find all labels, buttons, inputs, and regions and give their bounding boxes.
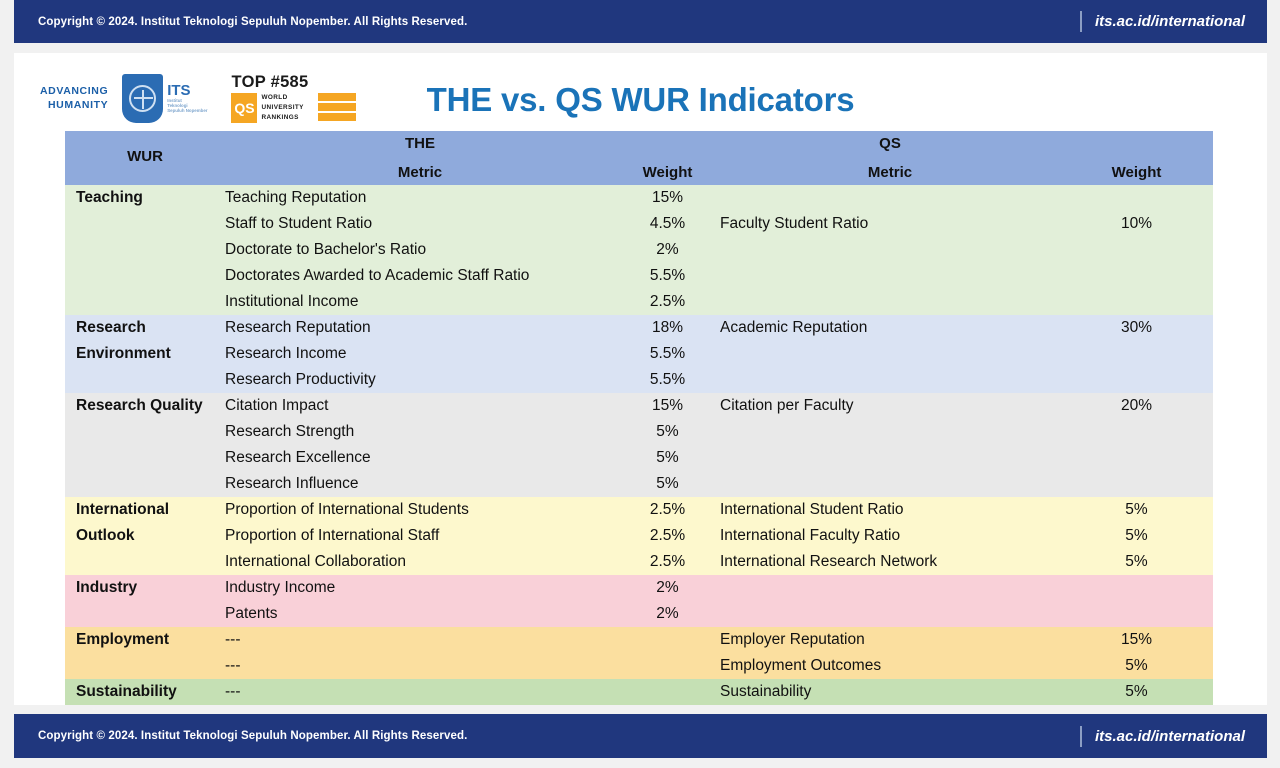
group-header-the: THE bbox=[225, 135, 615, 152]
cell-the-metric: Research Reputation bbox=[225, 315, 615, 341]
table-row: Research QualityCitation Impact15%Citati… bbox=[65, 393, 1213, 419]
cell-the-metric: --- bbox=[225, 627, 615, 653]
cell-the-weight: 2% bbox=[615, 601, 720, 627]
table-row: Research EnvironmentResearch Reputation1… bbox=[65, 315, 1213, 341]
cell-qs-metric bbox=[720, 237, 1060, 263]
the-metric-label: Metric bbox=[398, 164, 442, 181]
cell-qs-weight: 5% bbox=[1060, 497, 1213, 523]
cell-qs-weight bbox=[1060, 185, 1213, 211]
cell-the-weight bbox=[615, 627, 720, 653]
table-row: TeachingTeaching Reputation15% bbox=[65, 185, 1213, 211]
top-bar-right: its.ac.id/international bbox=[1080, 11, 1245, 32]
cell-qs-metric bbox=[720, 471, 1060, 497]
table-row: Doctorates Awarded to Academic Staff Rat… bbox=[65, 263, 1213, 289]
cell-the-metric: Research Income bbox=[225, 341, 615, 367]
group-header-qs: QS bbox=[720, 135, 1060, 152]
table-row: ---Employment Outcomes5% bbox=[65, 653, 1213, 679]
bottom-bar-url[interactable]: its.ac.id/international bbox=[1095, 728, 1245, 745]
cell-the-metric: Proportion of International Students bbox=[225, 497, 615, 523]
table-head: WUR THE Metric Weight QS Metric Weight bbox=[65, 131, 1213, 185]
col-header-qs-metric: QS Metric bbox=[720, 131, 1060, 185]
divider-icon bbox=[1080, 11, 1082, 32]
wur-category-sustainability: Sustainability bbox=[65, 679, 225, 705]
bottom-bar-right: its.ac.id/international bbox=[1080, 726, 1245, 747]
cell-qs-weight: 15% bbox=[1060, 627, 1213, 653]
cell-the-weight: 4.5% bbox=[615, 211, 720, 237]
cell-the-weight bbox=[615, 653, 720, 679]
cell-qs-weight: 5% bbox=[1060, 679, 1213, 705]
qs-metric-label: Metric bbox=[868, 164, 912, 181]
cell-the-weight: 2.5% bbox=[615, 549, 720, 575]
col-header-qs-weight: Weight bbox=[1060, 131, 1213, 185]
cell-qs-metric: Citation per Faculty bbox=[720, 393, 1060, 419]
cell-the-weight: 5.5% bbox=[615, 341, 720, 367]
cell-the-weight: 2.5% bbox=[615, 523, 720, 549]
cell-qs-weight bbox=[1060, 289, 1213, 315]
cell-the-weight bbox=[615, 679, 720, 705]
page-title: THE vs. QS WUR Indicators bbox=[14, 81, 1267, 119]
cell-the-metric: Research Influence bbox=[225, 471, 615, 497]
col-header-the-weight: Weight bbox=[615, 131, 720, 185]
cell-the-metric: Research Productivity bbox=[225, 367, 615, 393]
cell-the-metric: Staff to Student Ratio bbox=[225, 211, 615, 237]
slide-canvas: ADVANCING HUMANITY ITS Institut Teknolog… bbox=[14, 53, 1267, 705]
cell-the-metric: Research Excellence bbox=[225, 445, 615, 471]
cell-qs-weight: 5% bbox=[1060, 523, 1213, 549]
cell-qs-weight: 30% bbox=[1060, 315, 1213, 341]
cell-qs-metric bbox=[720, 601, 1060, 627]
table-row: Doctorate to Bachelor's Ratio2% bbox=[65, 237, 1213, 263]
wur-category-employment: Employment bbox=[65, 627, 225, 679]
cell-qs-metric: Faculty Student Ratio bbox=[720, 211, 1060, 237]
cell-the-metric: Research Strength bbox=[225, 419, 615, 445]
bottom-bar-copyright: Copyright © 2024. Institut Teknologi Sep… bbox=[38, 730, 467, 742]
cell-qs-weight bbox=[1060, 471, 1213, 497]
indicators-table: WUR THE Metric Weight QS Metric Weight T… bbox=[65, 131, 1213, 705]
cell-qs-weight: 10% bbox=[1060, 211, 1213, 237]
table-row: Research Income5.5% bbox=[65, 341, 1213, 367]
cell-the-weight: 5% bbox=[615, 419, 720, 445]
table-row: Patents2% bbox=[65, 601, 1213, 627]
cell-qs-weight: 5% bbox=[1060, 653, 1213, 679]
wur-category-teaching: Teaching bbox=[65, 185, 225, 315]
table-row: International Collaboration2.5%Internati… bbox=[65, 549, 1213, 575]
col-header-wur: WUR bbox=[65, 131, 225, 185]
cell-qs-metric: Employment Outcomes bbox=[720, 653, 1060, 679]
cell-the-metric: Doctorate to Bachelor's Ratio bbox=[225, 237, 615, 263]
wur-category-international: International Outlook bbox=[65, 497, 225, 575]
divider-icon bbox=[1080, 726, 1082, 747]
wur-category-research: Research Environment bbox=[65, 315, 225, 393]
cell-qs-metric: Sustainability bbox=[720, 679, 1060, 705]
cell-qs-metric: Employer Reputation bbox=[720, 627, 1060, 653]
cell-the-metric: Institutional Income bbox=[225, 289, 615, 315]
cell-the-weight: 2% bbox=[615, 575, 720, 601]
cell-the-weight: 2.5% bbox=[615, 497, 720, 523]
table-row: Sustainability---Sustainability5% bbox=[65, 679, 1213, 705]
cell-the-metric: --- bbox=[225, 653, 615, 679]
cell-qs-metric bbox=[720, 419, 1060, 445]
cell-the-weight: 5.5% bbox=[615, 263, 720, 289]
wur-category-industry: Industry bbox=[65, 575, 225, 627]
table-row: Staff to Student Ratio4.5%Faculty Studen… bbox=[65, 211, 1213, 237]
cell-the-metric: --- bbox=[225, 679, 615, 705]
cell-the-metric: Teaching Reputation bbox=[225, 185, 615, 211]
cell-qs-weight bbox=[1060, 575, 1213, 601]
table-row: Research Excellence5% bbox=[65, 445, 1213, 471]
cell-qs-weight bbox=[1060, 601, 1213, 627]
cell-qs-metric: Academic Reputation bbox=[720, 315, 1060, 341]
cell-qs-metric bbox=[720, 341, 1060, 367]
cell-the-weight: 15% bbox=[615, 185, 720, 211]
cell-qs-metric bbox=[720, 575, 1060, 601]
cell-qs-weight: 20% bbox=[1060, 393, 1213, 419]
table-row: Research Influence5% bbox=[65, 471, 1213, 497]
top-bar-url[interactable]: its.ac.id/international bbox=[1095, 13, 1245, 30]
cell-qs-metric bbox=[720, 263, 1060, 289]
table-header-row: WUR THE Metric Weight QS Metric Weight bbox=[65, 131, 1213, 185]
cell-qs-weight bbox=[1060, 367, 1213, 393]
cell-qs-weight bbox=[1060, 419, 1213, 445]
table-row: Proportion of International Staff2.5%Int… bbox=[65, 523, 1213, 549]
cell-qs-metric bbox=[720, 185, 1060, 211]
cell-the-weight: 18% bbox=[615, 315, 720, 341]
cell-qs-metric bbox=[720, 445, 1060, 471]
table-body: TeachingTeaching Reputation15%Staff to S… bbox=[65, 185, 1213, 705]
cell-qs-weight bbox=[1060, 445, 1213, 471]
top-bar: Copyright © 2024. Institut Teknologi Sep… bbox=[14, 0, 1267, 43]
bottom-bar: Copyright © 2024. Institut Teknologi Sep… bbox=[14, 714, 1267, 758]
table-row: IndustryIndustry Income2% bbox=[65, 575, 1213, 601]
cell-qs-metric: International Research Network bbox=[720, 549, 1060, 575]
table-row: International OutlookProportion of Inter… bbox=[65, 497, 1213, 523]
cell-qs-metric bbox=[720, 367, 1060, 393]
cell-qs-weight bbox=[1060, 263, 1213, 289]
cell-the-weight: 2.5% bbox=[615, 289, 720, 315]
cell-the-metric: Industry Income bbox=[225, 575, 615, 601]
cell-the-weight: 5% bbox=[615, 445, 720, 471]
table-row: Institutional Income2.5% bbox=[65, 289, 1213, 315]
cell-the-weight: 5% bbox=[615, 471, 720, 497]
cell-qs-weight: 5% bbox=[1060, 549, 1213, 575]
col-header-the-metric: THE Metric bbox=[225, 131, 615, 185]
cell-the-metric: Proportion of International Staff bbox=[225, 523, 615, 549]
table-row: Employment---Employer Reputation15% bbox=[65, 627, 1213, 653]
cell-qs-metric: International Student Ratio bbox=[720, 497, 1060, 523]
table-row: Research Productivity5.5% bbox=[65, 367, 1213, 393]
cell-the-weight: 5.5% bbox=[615, 367, 720, 393]
cell-the-weight: 2% bbox=[615, 237, 720, 263]
cell-qs-metric bbox=[720, 289, 1060, 315]
cell-qs-weight bbox=[1060, 341, 1213, 367]
cell-qs-metric: International Faculty Ratio bbox=[720, 523, 1060, 549]
cell-the-metric: Doctorates Awarded to Academic Staff Rat… bbox=[225, 263, 615, 289]
cell-the-weight: 15% bbox=[615, 393, 720, 419]
cell-the-metric: Patents bbox=[225, 601, 615, 627]
cell-qs-weight bbox=[1060, 237, 1213, 263]
top-bar-copyright: Copyright © 2024. Institut Teknologi Sep… bbox=[38, 16, 467, 28]
table-row: Research Strength5% bbox=[65, 419, 1213, 445]
cell-the-metric: Citation Impact bbox=[225, 393, 615, 419]
wur-category-quality: Research Quality bbox=[65, 393, 225, 497]
cell-the-metric: International Collaboration bbox=[225, 549, 615, 575]
